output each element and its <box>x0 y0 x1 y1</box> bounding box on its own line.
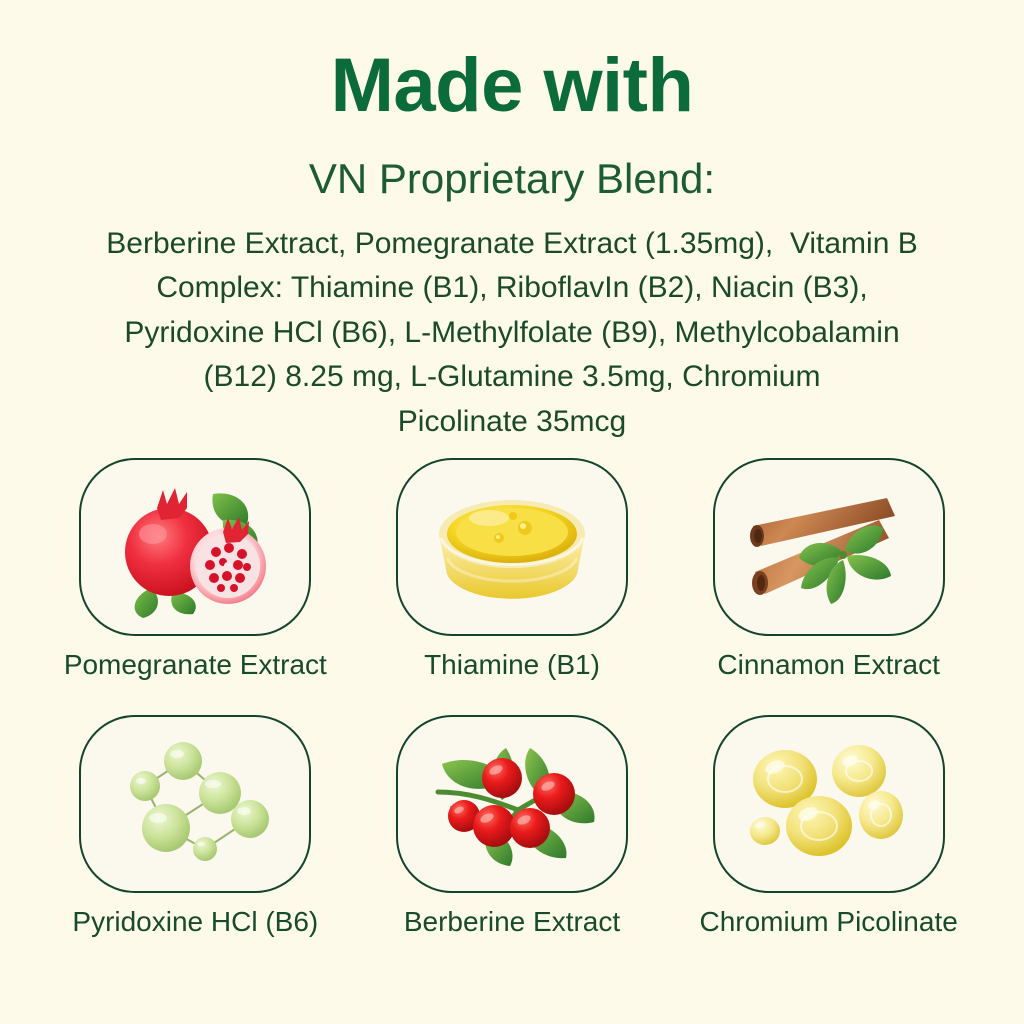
ingredient-cell-pomegranate[interactable]: Pomegranate Extract <box>42 458 349 681</box>
ingredient-cell-thiamine[interactable]: Thiamine (B1) <box>359 458 666 681</box>
ingredient-card <box>79 715 311 893</box>
page-title: Made with <box>331 0 694 124</box>
ingredient-label: Berberine Extract <box>404 907 620 938</box>
ingredient-card <box>713 715 945 893</box>
ingredient-card <box>713 458 945 636</box>
ingredient-card <box>396 715 628 893</box>
ingredient-cell-chromium[interactable]: Chromium Picolinate <box>675 715 982 938</box>
ingredient-label: Chromium Picolinate <box>699 907 957 938</box>
ingredient-cell-pyridoxine[interactable]: Pyridoxine HCl (B6) <box>42 715 349 938</box>
ingredient-card <box>79 458 311 636</box>
ingredient-label: Pomegranate Extract <box>64 650 327 681</box>
blend-text-line-1: Berberine Extract, Pomegranate Extract (… <box>42 222 982 266</box>
blend-text-line-5: Picolinate 35mcg <box>42 400 982 444</box>
ingredient-label: Pyridoxine HCl (B6) <box>72 907 318 938</box>
ingredient-label: Thiamine (B1) <box>424 650 600 681</box>
red-berries-icon <box>414 730 609 878</box>
blend-text-line-4: (B12) 8.25 mg, L-Glutamine 3.5mg, Chromi… <box>42 355 982 399</box>
ingredients-poster: Made with VN Proprietary Blend: Berberin… <box>0 0 1024 1024</box>
yellow-liquid-bowl-icon <box>417 472 607 622</box>
ingredient-grid: Pomegranate Extract <box>42 458 982 938</box>
blend-subtitle: VN Proprietary Blend: <box>309 124 715 200</box>
blend-text-line-2: Complex: Thiamine (B1), RiboflavIn (B2),… <box>42 266 982 310</box>
pomegranate-icon <box>95 472 295 622</box>
cinnamon-sticks-icon <box>729 472 929 622</box>
ingredient-cell-berberine[interactable]: Berberine Extract <box>359 715 666 938</box>
blend-ingredient-text: Berberine Extract, Pomegranate Extract (… <box>42 200 982 444</box>
molecule-structure-icon <box>100 731 290 876</box>
ingredient-card <box>396 458 628 636</box>
oil-droplets-icon <box>731 731 926 876</box>
ingredient-label: Cinnamon Extract <box>717 650 940 681</box>
blend-text-line-3: Pyridoxine HCl (B6), L-Methylfolate (B9)… <box>42 311 982 355</box>
ingredient-cell-cinnamon[interactable]: Cinnamon Extract <box>675 458 982 681</box>
